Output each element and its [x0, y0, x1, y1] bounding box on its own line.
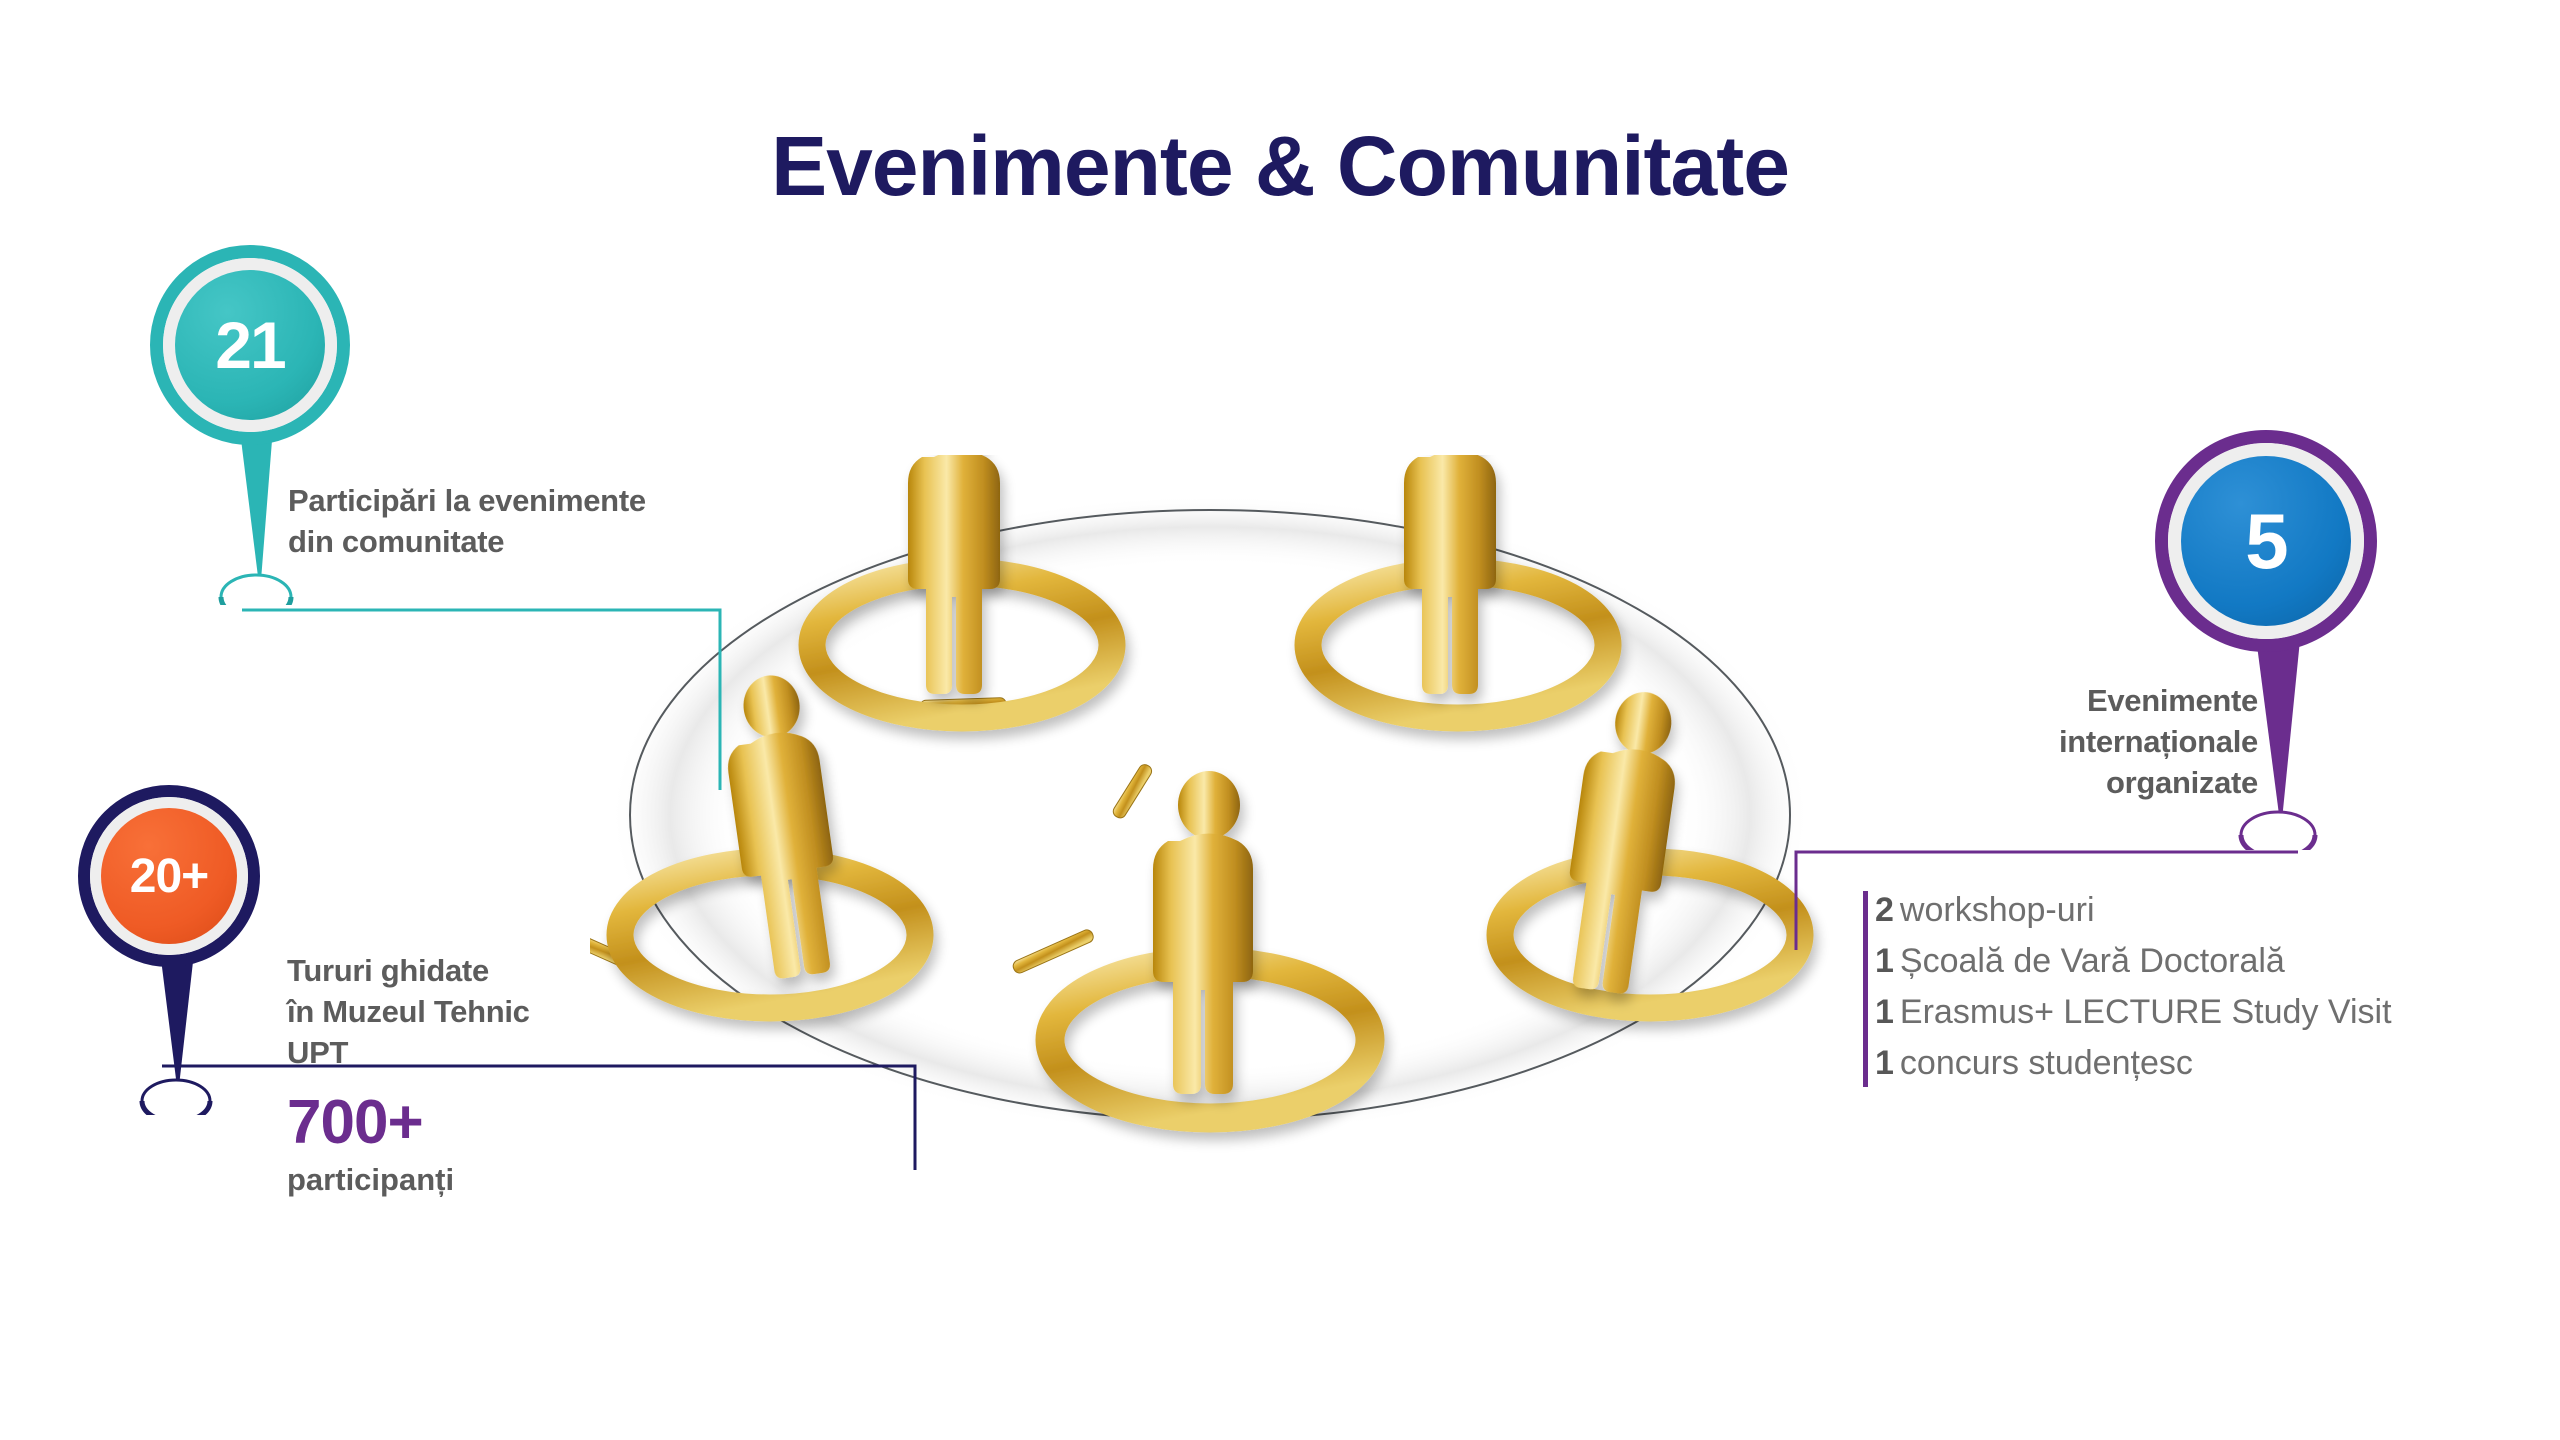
- label-line: din comunitate: [288, 521, 808, 562]
- pin-value-international-events: 5: [2181, 456, 2351, 626]
- marker-pin-guided-tours[interactable]: 20+: [78, 785, 288, 1115]
- list-item-text: Erasmus+ LECTURE Study Visit: [1900, 993, 2392, 1031]
- list-item-text: workshop-uri: [1900, 891, 2095, 929]
- list-item-text: Școală de Vară Doctorală: [1900, 942, 2285, 980]
- label-line: UPT: [287, 1032, 747, 1073]
- highlight-caption-participants: participanți: [287, 1163, 454, 1197]
- highlight-number-participants: 700+: [287, 1092, 423, 1154]
- label-line: Tururi ghidate: [287, 950, 747, 991]
- marker-label-guided-tours: Tururi ghidate în Muzeul Tehnic UPT: [287, 950, 747, 1073]
- list-item: 1Școală de Vară Doctorală: [1875, 936, 2535, 987]
- label-line: Evenimente: [1880, 680, 2258, 721]
- infographic-canvas: Evenimente & Comunitate: [0, 0, 2560, 1440]
- marker-label-international-events: Evenimente internaționale organizate: [1880, 680, 2258, 803]
- list-item: 1concurs studențesc: [1875, 1038, 2535, 1089]
- pin-value-guided-tours: 20+: [101, 808, 237, 944]
- label-line: organizate: [1880, 762, 2258, 803]
- marker-label-community-events: Participări la evenimente din comunitate: [288, 480, 808, 562]
- international-events-list: 2workshop-uri 1Școală de Vară Doctorală …: [1875, 885, 2535, 1089]
- list-item-count: 1: [1875, 942, 1894, 980]
- list-item-count: 1: [1875, 1044, 1894, 1082]
- label-line: internaționale: [1880, 721, 2258, 762]
- label-line: Participări la evenimente: [288, 480, 808, 521]
- pin-value-community-events: 21: [175, 270, 325, 420]
- list-item-text: concurs studențesc: [1900, 1044, 2193, 1082]
- label-line: în Muzeul Tehnic: [287, 991, 747, 1032]
- list-item: 1Erasmus+ LECTURE Study Visit: [1875, 987, 2535, 1038]
- list-item-count: 2: [1875, 891, 1894, 929]
- page-title: Evenimente & Comunitate: [0, 118, 2560, 215]
- connector-line-teal: [230, 590, 750, 820]
- list-accent-bar: [1863, 891, 1868, 1087]
- list-item: 2workshop-uri: [1875, 885, 2535, 936]
- list-item-count: 1: [1875, 993, 1894, 1031]
